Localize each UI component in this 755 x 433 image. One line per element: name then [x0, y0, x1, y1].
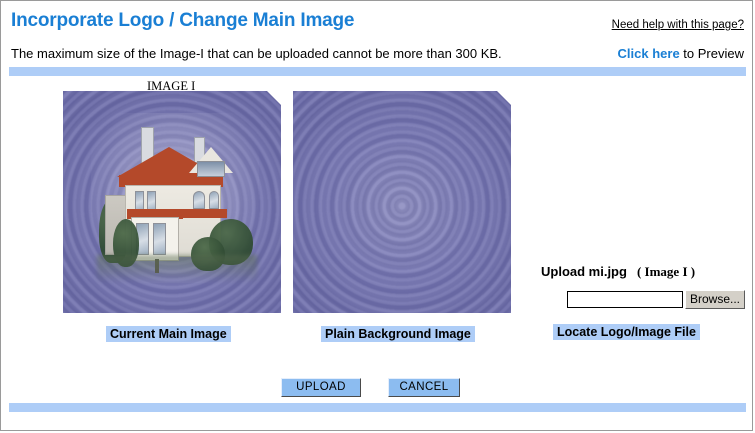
- gable-window-icon: [197, 161, 225, 177]
- preview-line: Click here to Preview: [618, 46, 744, 61]
- window-icon: [135, 191, 144, 211]
- caption-current-main-image: Current Main Image: [106, 326, 231, 342]
- preview-link[interactable]: Click here: [618, 46, 680, 61]
- porch-roof-icon: [183, 209, 227, 218]
- preview-suffix-text: to Preview: [680, 46, 744, 61]
- upload-heading: Upload mi.jpg( Image I ): [541, 264, 695, 280]
- help-link[interactable]: Need help with this page?: [612, 19, 744, 31]
- ground-shadow: [97, 255, 257, 283]
- house-illustration: [63, 91, 281, 313]
- upload-heading-text: Upload mi.jpg: [541, 264, 627, 279]
- file-path-input[interactable]: [567, 291, 683, 308]
- browse-button[interactable]: Browse...: [685, 290, 745, 309]
- page-container: Incorporate Logo / Change Main Image Nee…: [0, 0, 753, 431]
- cancel-button[interactable]: CANCEL: [388, 378, 460, 397]
- window-arch-icon: [193, 191, 205, 209]
- divider-top: [9, 67, 746, 76]
- window-icon: [147, 191, 156, 211]
- page-subtitle: The maximum size of the Image-I that can…: [11, 46, 502, 61]
- upload-image-tag: ( Image I ): [637, 264, 695, 279]
- window-icon: [153, 223, 166, 255]
- plain-background-image-thumbnail[interactable]: [293, 91, 511, 313]
- caption-plain-background-image: Plain Background Image: [321, 326, 475, 342]
- divider-bottom: [9, 403, 746, 412]
- page-title: Incorporate Logo / Change Main Image: [11, 10, 354, 32]
- ripple-pattern-icon: [293, 91, 511, 313]
- current-main-image-thumbnail[interactable]: [63, 91, 281, 313]
- upload-button[interactable]: UPLOAD: [281, 378, 361, 397]
- locate-file-label: Locate Logo/Image File: [553, 324, 700, 340]
- window-arch-icon: [209, 191, 219, 209]
